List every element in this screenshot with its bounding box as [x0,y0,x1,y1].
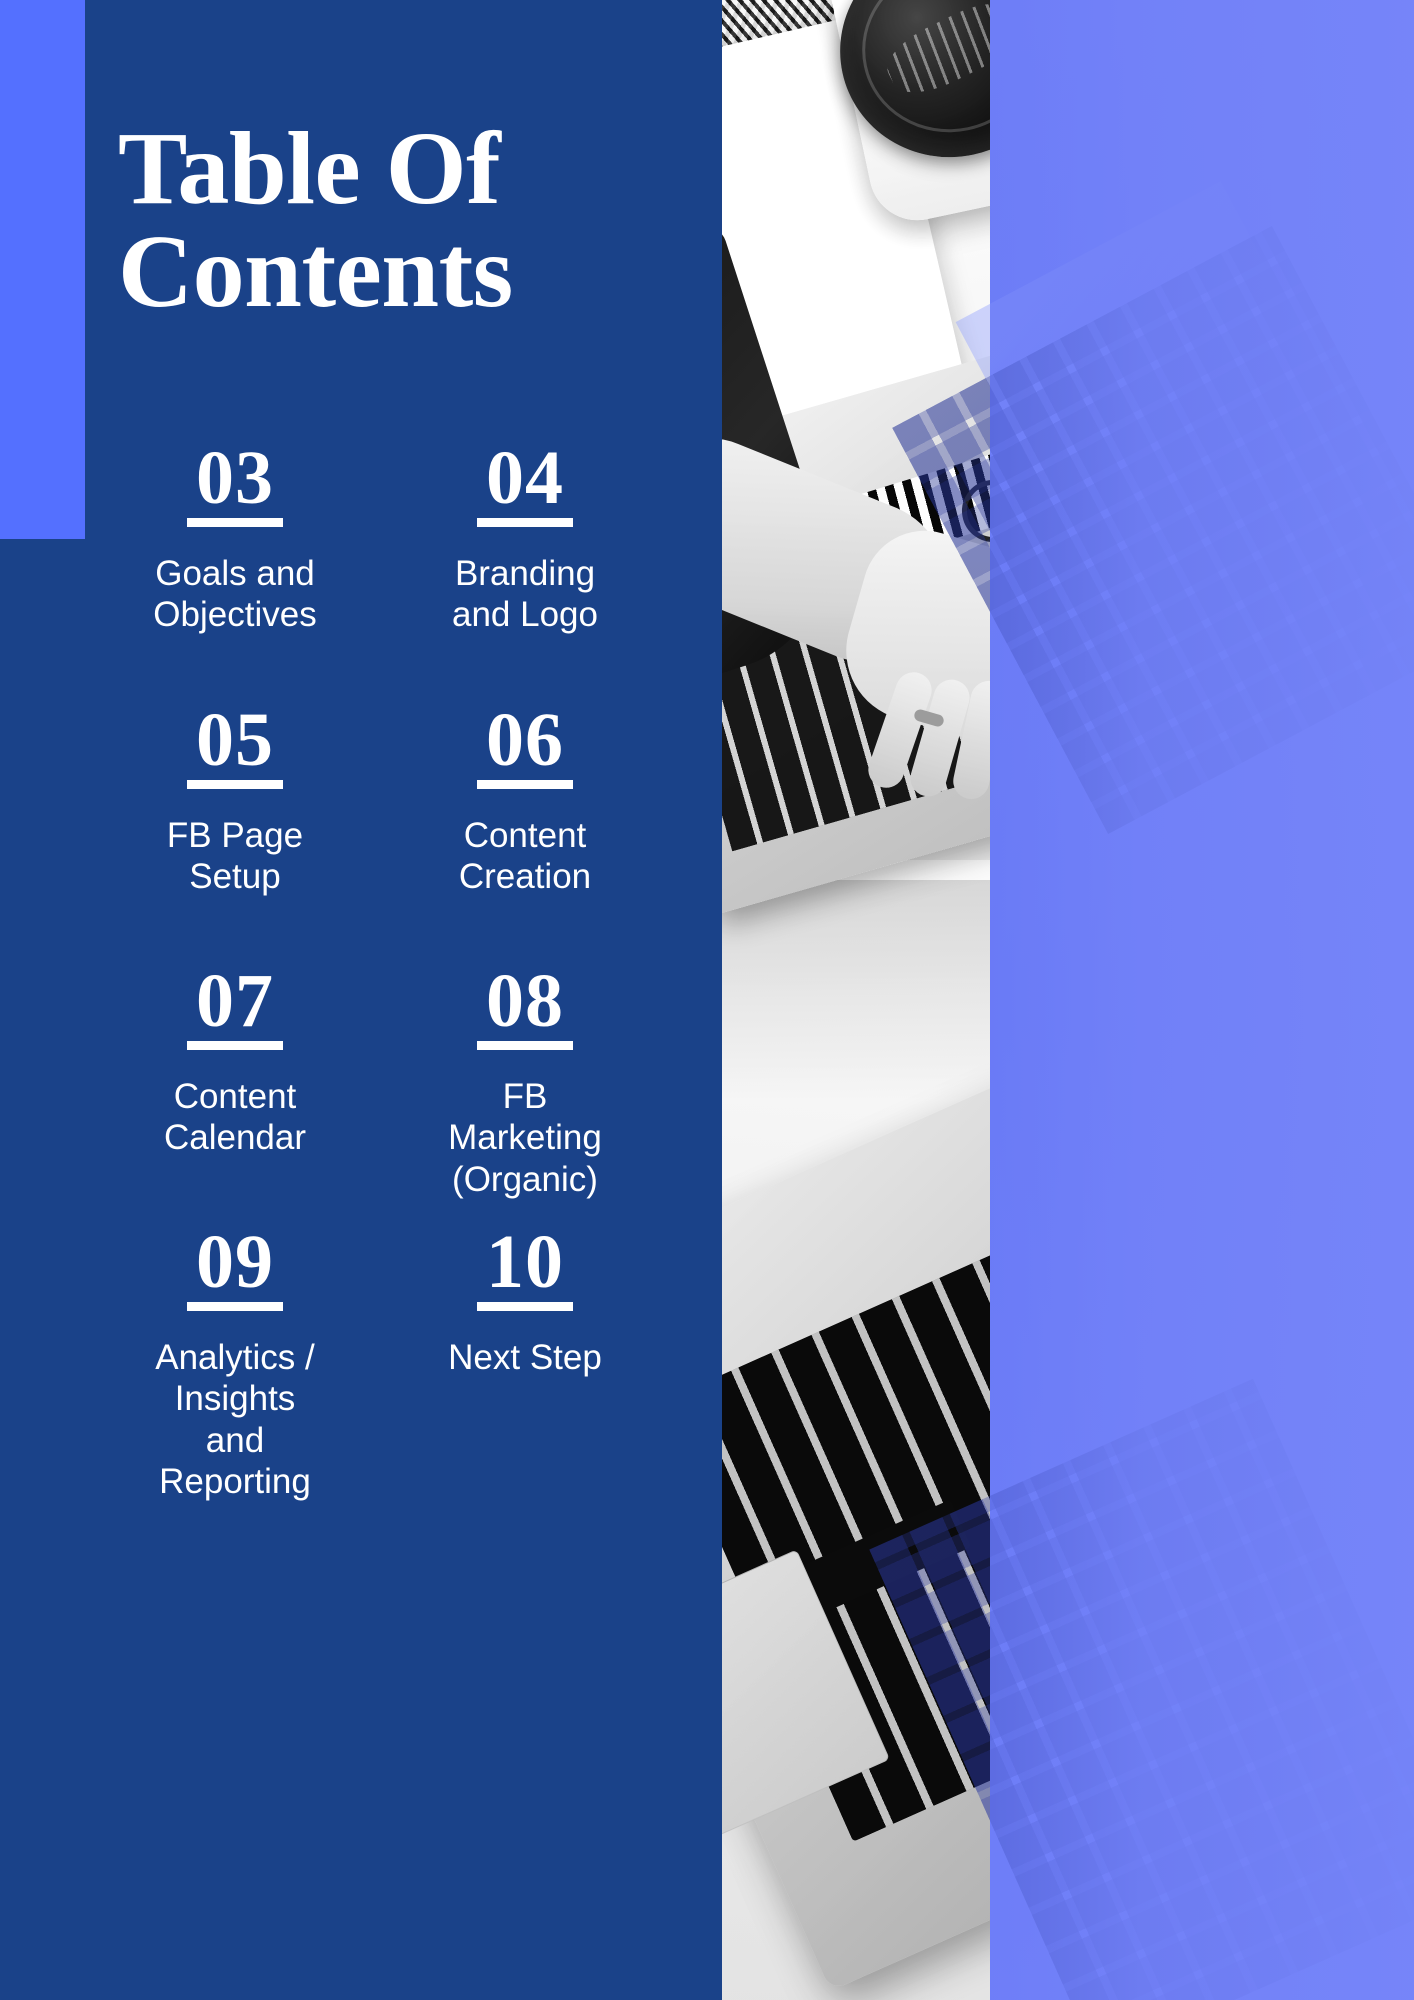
toc-item-03[interactable]: 03 Goals and Objectives [100,440,370,642]
toc-underline [477,1041,573,1050]
toc-number: 03 [196,440,274,516]
toc-label: Content Calendar [164,1076,306,1159]
toc-underline [477,780,573,789]
toc-underline [187,518,283,527]
toc-number: 07 [196,963,274,1039]
toc-label: FB Page Setup [167,815,303,898]
toc-label: Content Creation [459,815,591,898]
toc-number: 04 [486,440,564,516]
toc-item-05[interactable]: 05 FB Page Setup [100,702,370,904]
slide-canvas: Table Of Contents 03 Goals and Objective… [0,0,1414,2000]
left-panel: Table Of Contents 03 Goals and Objective… [0,0,722,2000]
desk-shadow [722,880,990,1100]
toc-label: Goals and Objectives [153,553,316,636]
toc-number: 10 [486,1224,564,1300]
table-of-contents-grid: 03 Goals and Objectives 04 Branding and … [100,440,660,1508]
toc-item-07[interactable]: 07 Content Calendar [100,963,370,1206]
page-title: Table Of Contents [118,118,678,324]
toc-item-10[interactable]: 10 Next Step [390,1224,660,1508]
toc-number: 09 [196,1224,274,1300]
toc-underline [477,518,573,527]
toc-underline [187,1041,283,1050]
toc-number: 06 [486,702,564,778]
toc-label: Analytics / Insights and Reporting [155,1337,315,1502]
toc-underline [187,780,283,789]
toc-label: Next Step [448,1337,602,1378]
toc-number: 08 [486,963,564,1039]
toc-item-06[interactable]: 06 Content Creation [390,702,660,904]
toc-underline [477,1302,573,1311]
toc-underline [187,1302,283,1311]
toc-label: FB Marketing (Organic) [448,1076,602,1200]
toc-item-09[interactable]: 09 Analytics / Insights and Reporting [100,1224,370,1508]
toc-label: Branding and Logo [452,553,598,636]
accent-bar [0,0,85,539]
toc-item-08[interactable]: 08 FB Marketing (Organic) [390,963,660,1206]
toc-number: 05 [196,702,274,778]
toc-item-04[interactable]: 04 Branding and Logo [390,440,660,642]
right-overlay-wash [990,0,1414,2000]
